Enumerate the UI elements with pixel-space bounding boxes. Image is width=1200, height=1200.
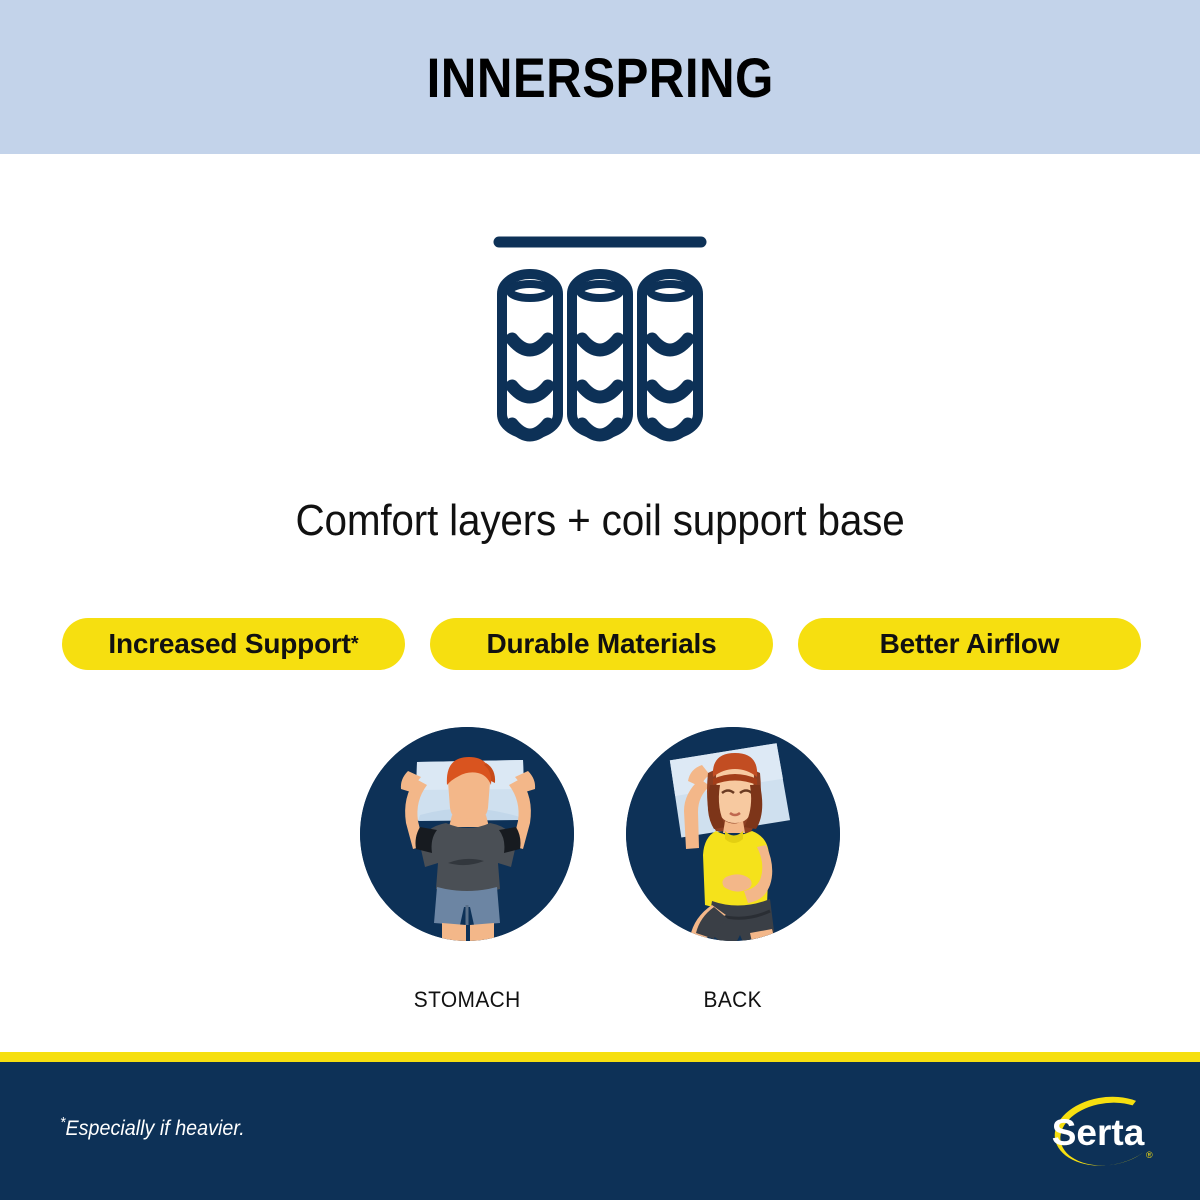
coil-springs-icon xyxy=(0,222,1200,452)
footer-accent-rule xyxy=(0,1052,1200,1062)
sleep-position-stomach[interactable]: STOMACH xyxy=(360,727,574,1013)
registered-trademark-icon: ® xyxy=(1146,1150,1153,1160)
feature-pill-durable-materials[interactable]: Durable Materials xyxy=(430,618,773,670)
sleep-position-back[interactable]: BACK xyxy=(626,727,840,1013)
page-title: INNERSPRING xyxy=(426,45,773,110)
back-sleeper-illustration xyxy=(626,727,840,941)
sleep-positions: STOMACH xyxy=(0,727,1200,1013)
feature-pill-better-airflow[interactable]: Better Airflow xyxy=(798,618,1141,670)
header-band: INNERSPRING xyxy=(0,0,1200,154)
feature-pill-increased-support[interactable]: Increased Support* xyxy=(62,618,405,670)
feature-pill-label: Durable Materials xyxy=(486,628,716,660)
sleep-position-label: STOMACH xyxy=(414,987,521,1013)
feature-pill-label: Better Airflow xyxy=(880,628,1060,660)
feature-pill-label: Increased Support xyxy=(108,628,350,660)
serta-logo[interactable]: Serta ® xyxy=(1036,1082,1166,1182)
footnote-label: Especially if heavier. xyxy=(65,1117,244,1140)
sleep-position-label: BACK xyxy=(704,987,762,1013)
subtitle: Comfort layers + coil support base xyxy=(48,496,1152,546)
stomach-sleeper-illustration xyxy=(360,727,574,941)
footnote-text: *Especially if heavier. xyxy=(60,1117,245,1141)
feature-pill-row: Increased Support* Durable Materials Bet… xyxy=(62,618,1138,670)
serta-wordmark: Serta xyxy=(1052,1112,1145,1153)
